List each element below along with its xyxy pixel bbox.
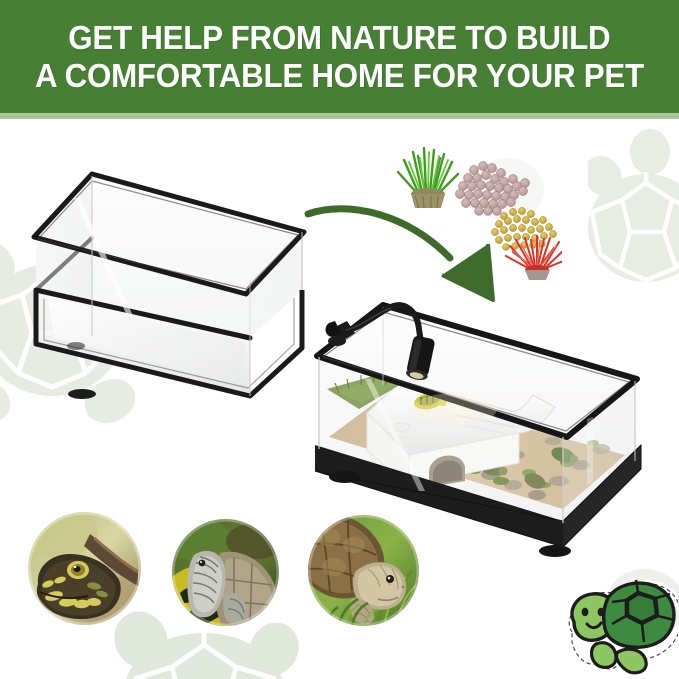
eye — [598, 608, 605, 616]
header-banner: GET HELP FROM NATURE TO BUILD A COMFORTA… — [0, 0, 679, 113]
turtle-silhouette-watermark — [588, 128, 679, 288]
tank-foot — [67, 342, 85, 350]
list-item — [308, 515, 419, 626]
banner-underline-strip — [0, 113, 679, 119]
turtle-head-closeup — [28, 512, 141, 625]
product-infographic: GET HELP FROM NATURE TO BUILD A COMFORTA… — [0, 0, 679, 679]
tortoise-in-grass — [308, 515, 419, 626]
tank-foot — [329, 471, 361, 483]
curved-arrow — [300, 196, 505, 311]
list-item — [172, 519, 279, 626]
empty-tank-product-image — [14, 168, 324, 400]
turtle-on-shell — [172, 519, 279, 626]
cartoon-turtle-sticker — [560, 572, 678, 678]
banner-headline-line-1: GET HELP FROM NATURE TO BUILD — [68, 19, 610, 57]
list-item — [28, 512, 141, 625]
eye — [582, 608, 589, 616]
tank-foot — [539, 545, 571, 557]
banner-headline-line-2: A COMFORTABLE HOME FOR YOUR PET — [35, 57, 644, 95]
tank-foot — [68, 389, 96, 399]
